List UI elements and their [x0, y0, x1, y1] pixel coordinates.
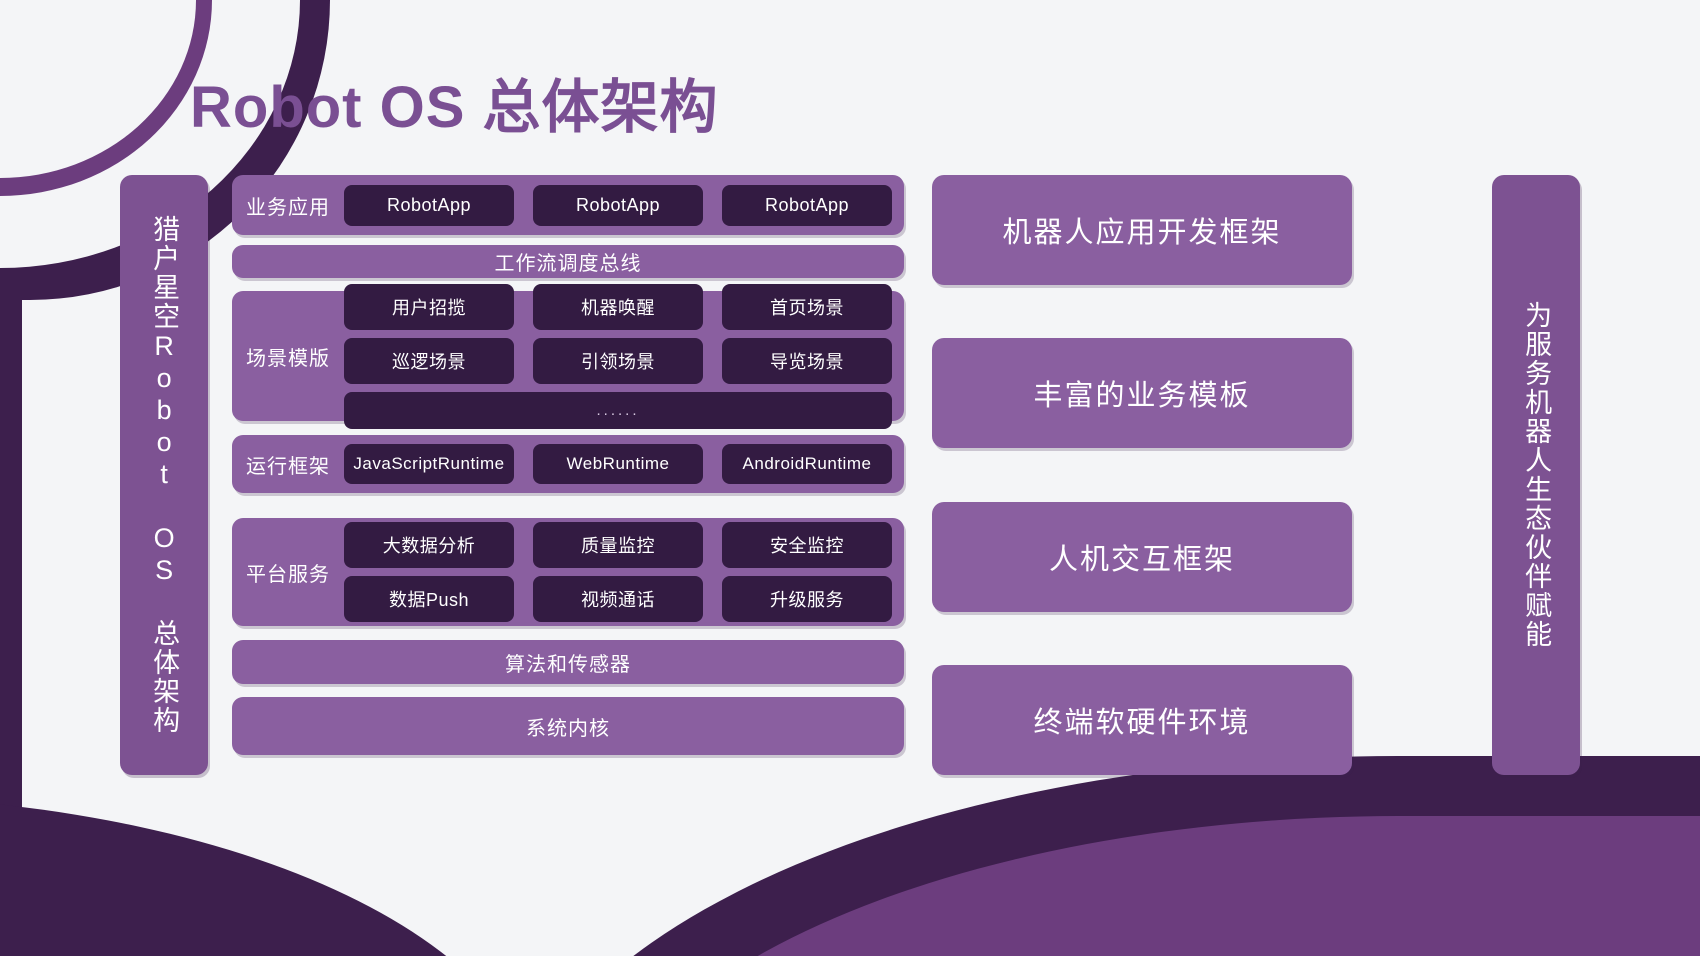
feature-business-templates[interactable]: 丰富的业务模板: [932, 338, 1352, 448]
feature-column: 机器人应用开发框架 丰富的业务模板 人机交互框架 终端软硬件环境: [932, 175, 1352, 775]
layer-body-runtime-framework: JavaScriptRuntime WebRuntime AndroidRunt…: [344, 435, 904, 493]
layer-label-business-apps: 业务应用: [232, 191, 344, 220]
left-pillar: 猎户星空Robot OS 总体架构: [120, 175, 208, 775]
chip-scene-patrol[interactable]: 巡逻场景: [344, 338, 514, 384]
chip-scene-robot-wakeup[interactable]: 机器唤醒: [533, 284, 703, 330]
chip-bigdata-analysis[interactable]: 大数据分析: [344, 522, 514, 568]
layer-stack: 业务应用 RobotApp RobotApp RobotApp 工作流调度总线 …: [232, 175, 904, 775]
layer-body-platform-services: 大数据分析 质量监控 安全监控 数据Push 视频通话 升级服务: [344, 513, 904, 631]
chip-security-monitoring[interactable]: 安全监控: [722, 522, 892, 568]
layer-body-scene-templates: 用户招揽 机器唤醒 首页场景 巡逻场景 引领场景 导览场景 ......: [344, 275, 904, 438]
layer-body-business-apps: RobotApp RobotApp RobotApp: [344, 176, 904, 235]
chip-web-runtime[interactable]: WebRuntime: [533, 444, 703, 484]
layer-label-scene-templates: 场景模版: [232, 342, 344, 371]
layer-label-runtime-framework: 运行框架: [232, 450, 344, 479]
right-pillar: 为服务机器人生态伙伴赋能: [1492, 175, 1580, 775]
right-pillar-label: 为服务机器人生态伙伴赋能: [1521, 301, 1551, 649]
chip-video-call[interactable]: 视频通话: [533, 576, 703, 622]
chip-quality-monitoring[interactable]: 质量监控: [533, 522, 703, 568]
chip-scene-guidance[interactable]: 引领场景: [533, 338, 703, 384]
layer-label-platform-services: 平台服务: [232, 558, 344, 587]
feature-device-hw-sw-env[interactable]: 终端软硬件环境: [932, 665, 1352, 775]
chip-javascript-runtime[interactable]: JavaScriptRuntime: [344, 444, 514, 484]
spacer: [232, 235, 904, 245]
page-title: Robot OS 总体架构: [190, 60, 719, 144]
chip-data-push[interactable]: 数据Push: [344, 576, 514, 622]
layer-runtime-framework: 运行框架 JavaScriptRuntime WebRuntime Androi…: [232, 435, 904, 493]
layer-platform-services: 平台服务 大数据分析 质量监控 安全监控 数据Push 视频通话 升级服务: [232, 518, 904, 626]
left-pillar-label: 猎户星空Robot OS 总体架构: [149, 215, 179, 735]
spacer: [232, 626, 904, 640]
chip-android-runtime[interactable]: AndroidRuntime: [722, 444, 892, 484]
decor-bottom-left-wave: [0, 796, 540, 956]
layer-scene-templates: 场景模版 用户招揽 机器唤醒 首页场景 巡逻场景 引领场景 导览场景 .....…: [232, 291, 904, 421]
chip-robotapp-2[interactable]: RobotApp: [533, 185, 703, 226]
chip-scene-homepage[interactable]: 首页场景: [722, 284, 892, 330]
chip-upgrade-service[interactable]: 升级服务: [722, 576, 892, 622]
chip-row: 数据Push 视频通话 升级服务: [344, 576, 892, 622]
slide-root: Robot OS 总体架构 猎户星空Robot OS 总体架构 业务应用 Rob…: [0, 0, 1700, 956]
layer-system-kernel[interactable]: 系统内核: [232, 697, 904, 755]
spacer: [232, 421, 904, 435]
layer-business-apps: 业务应用 RobotApp RobotApp RobotApp: [232, 175, 904, 235]
chip-row: 用户招揽 机器唤醒 首页场景: [344, 284, 892, 330]
layer-workflow-bus[interactable]: 工作流调度总线: [232, 245, 904, 278]
chip-row: 巡逻场景 引领场景 导览场景: [344, 338, 892, 384]
architecture-diagram: 猎户星空Robot OS 总体架构 业务应用 RobotApp RobotApp…: [120, 175, 1580, 775]
chip-row: JavaScriptRuntime WebRuntime AndroidRunt…: [344, 444, 892, 484]
chip-robotapp-3[interactable]: RobotApp: [722, 185, 892, 226]
feature-app-dev-framework[interactable]: 机器人应用开发框架: [932, 175, 1352, 285]
chip-scene-tour[interactable]: 导览场景: [722, 338, 892, 384]
chip-row: 大数据分析 质量监控 安全监控: [344, 522, 892, 568]
chip-robotapp-1[interactable]: RobotApp: [344, 185, 514, 226]
layer-algorithms-sensors[interactable]: 算法和传感器: [232, 640, 904, 684]
feature-hmi-framework[interactable]: 人机交互框架: [932, 502, 1352, 612]
chip-scene-user-attraction[interactable]: 用户招揽: [344, 284, 514, 330]
chip-row: RobotApp RobotApp RobotApp: [344, 185, 892, 226]
spacer: [232, 684, 904, 697]
